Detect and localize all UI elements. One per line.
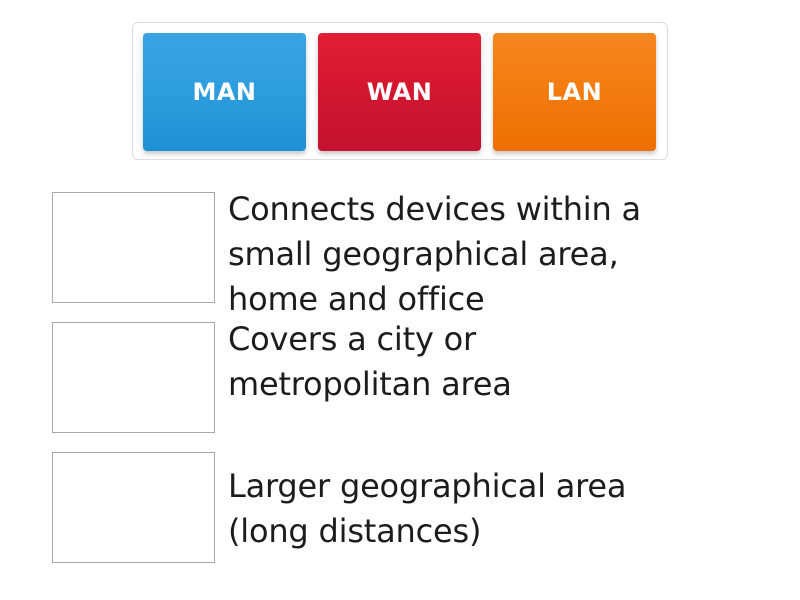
answer-text-1: Connects devices within a small geograph… — [228, 187, 688, 322]
tile-lan[interactable]: LAN — [493, 33, 656, 151]
answer-row: Covers a city or metropolitan area — [52, 322, 688, 433]
answer-row: Connects devices within a small geograph… — [52, 192, 688, 322]
drop-zone-2[interactable] — [52, 322, 215, 433]
tile-man-label: MAN — [192, 78, 256, 106]
tile-lan-label: LAN — [547, 78, 602, 106]
draggable-tile-tray: MAN WAN LAN — [132, 22, 668, 160]
answer-row: Larger geographical area (long distances… — [52, 452, 688, 563]
tile-wan[interactable]: WAN — [318, 33, 481, 151]
drop-zone-1[interactable] — [52, 192, 215, 303]
tile-wan-label: WAN — [367, 78, 433, 106]
tile-man[interactable]: MAN — [143, 33, 306, 151]
answer-text-2: Covers a city or metropolitan area — [228, 317, 688, 407]
match-up-activity: MAN WAN LAN Connects devices within a sm… — [0, 0, 800, 600]
drop-zone-3[interactable] — [52, 452, 215, 563]
answer-text-3: Larger geographical area (long distances… — [228, 464, 688, 554]
